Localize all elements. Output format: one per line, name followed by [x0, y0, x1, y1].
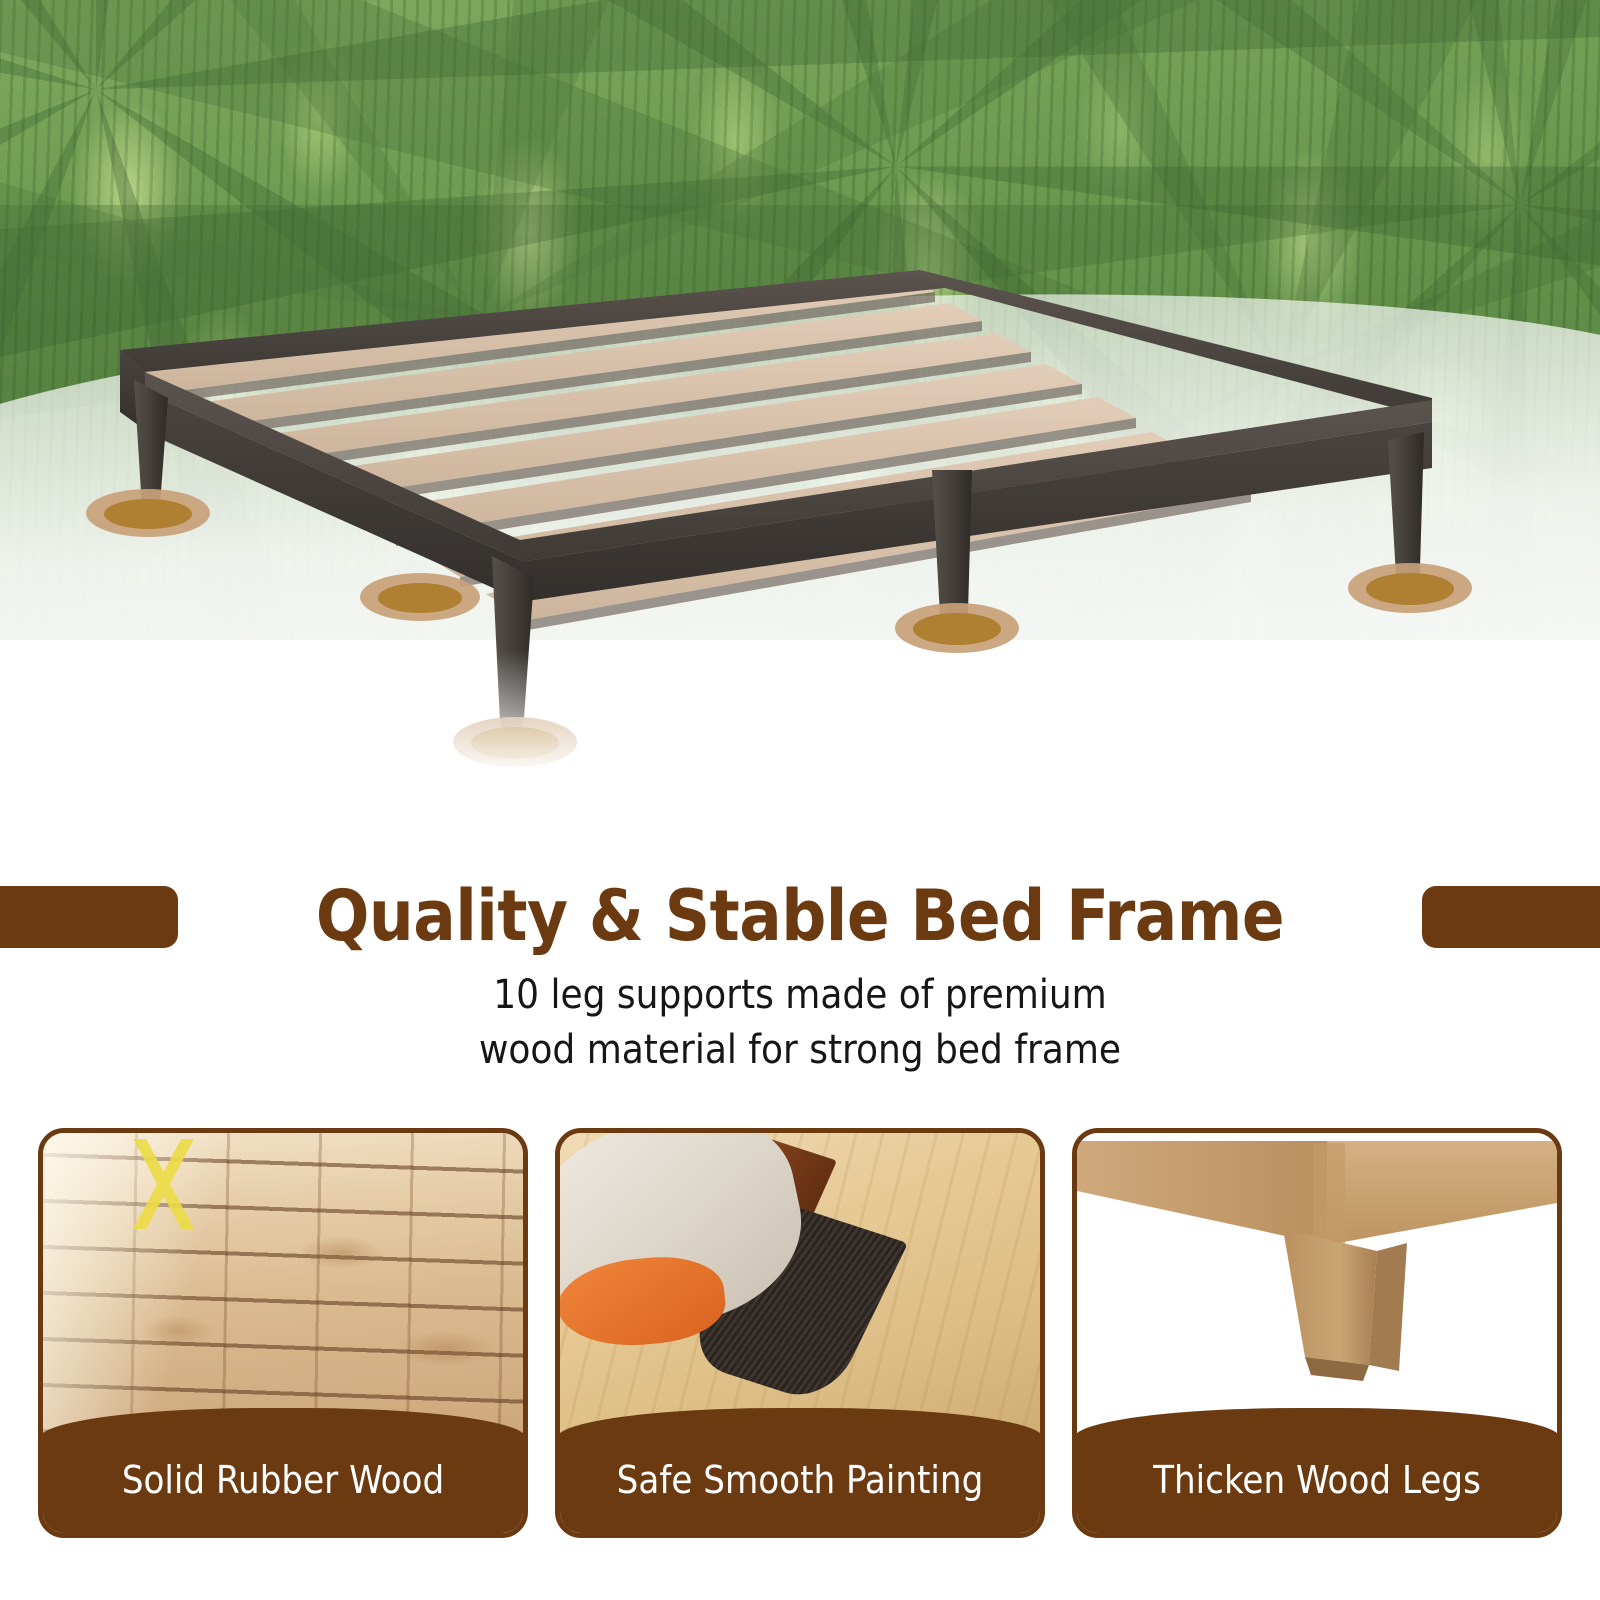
wood-leg-photo [1077, 1133, 1557, 1433]
feature-card-row: Solid Rubber Wood Safe Smooth Painting [0, 1128, 1600, 1548]
page-subtitle: 10 leg supports made of premium wood mat… [0, 968, 1600, 1078]
card-caption-label: Safe Smooth Painting [617, 1458, 984, 1502]
feature-card-solid-rubber-wood: Solid Rubber Wood [38, 1128, 528, 1538]
subtitle-line-1: 10 leg supports made of premium [0, 968, 1600, 1023]
feature-card-safe-smooth-painting: Safe Smooth Painting [555, 1128, 1045, 1538]
lumber-stack-photo [43, 1133, 523, 1433]
leg-disc [895, 603, 1019, 653]
subtitle-line-2: wood material for strong bed frame [0, 1023, 1600, 1078]
hero-section [0, 0, 1600, 830]
painting-brush-photo [560, 1133, 1040, 1433]
leg-disc [1348, 563, 1472, 613]
feature-card-thicken-wood-legs: Thicken Wood Legs [1072, 1128, 1562, 1538]
card-caption-bar: Thicken Wood Legs [1074, 1408, 1560, 1536]
card-caption-bar: Safe Smooth Painting [557, 1408, 1043, 1536]
card-caption-label: Thicken Wood Legs [1153, 1458, 1481, 1502]
card-caption-bar: Solid Rubber Wood [40, 1408, 526, 1536]
page-title: Quality & Stable Bed Frame [0, 878, 1600, 954]
hero-bottom-fade [0, 650, 1600, 830]
leg-disc [86, 489, 210, 537]
leg-disc [360, 573, 480, 621]
card-caption-label: Solid Rubber Wood [122, 1458, 444, 1502]
title-row: Quality & Stable Bed Frame [0, 878, 1600, 954]
